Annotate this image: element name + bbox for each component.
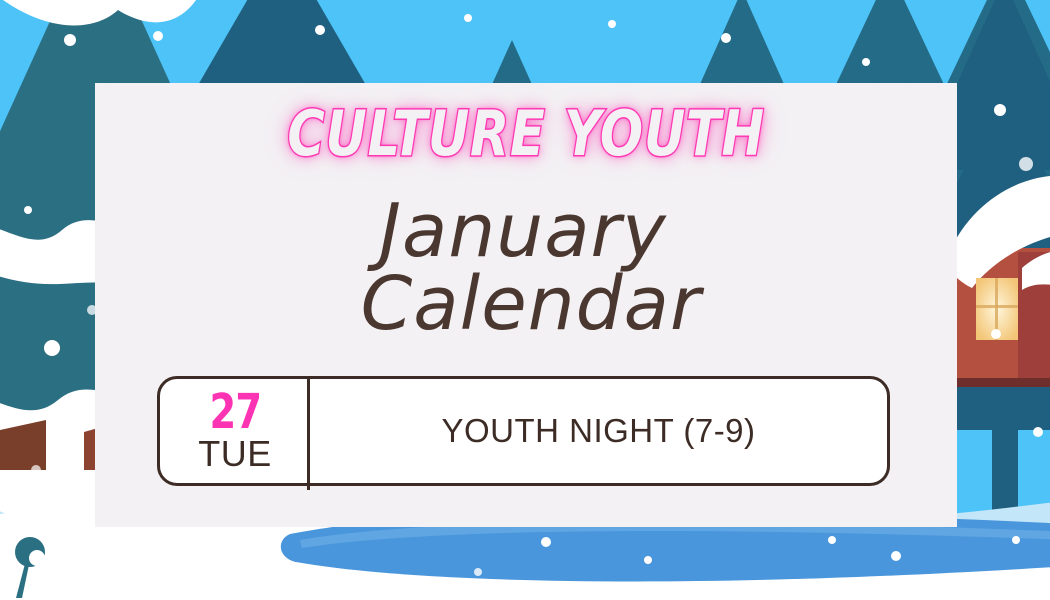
event-day-of-week: TUE [198, 436, 272, 472]
poster-title: CULTURE YOUTH [287, 103, 765, 165]
event-day-number: 27 [209, 390, 261, 434]
event-date-cell: 27 TUE [160, 379, 310, 483]
calendar-poster: CULTURE YOUTH January Calendar 27 TUE YO… [0, 0, 1050, 600]
month-heading-line-2: Calendar [105, 268, 957, 341]
event-row[interactable]: 27 TUE YOUTH NIGHT (7-9) [157, 376, 890, 486]
calendar-card: CULTURE YOUTH January Calendar 27 TUE YO… [95, 83, 957, 527]
event-title-cell: YOUTH NIGHT (7-9) [310, 379, 887, 483]
month-heading: January Calendar [95, 195, 957, 340]
neon-title-container: CULTURE YOUTH [95, 103, 957, 165]
event-title: YOUTH NIGHT (7-9) [441, 412, 755, 450]
month-heading-line-1: January [89, 195, 957, 268]
